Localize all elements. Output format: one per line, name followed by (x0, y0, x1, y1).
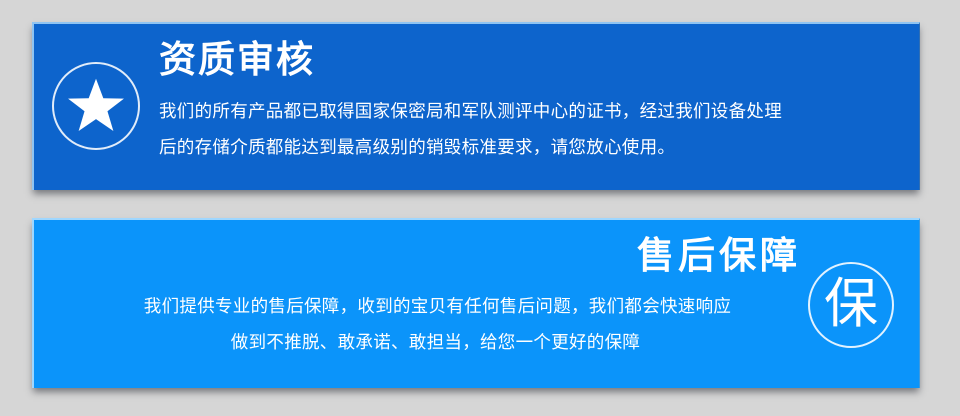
promo-banner-stage: 资质审核 我们的所有产品都已取得国家保密局和军队测评中心的证书，经过我们设备处理… (0, 0, 960, 416)
banner-qualification-surface: 资质审核 我们的所有产品都已取得国家保密局和军队测评中心的证书，经过我们设备处理… (32, 22, 920, 190)
banner-qualification-heading: 资质审核 (159, 40, 879, 80)
banner-aftersales-surface: 保 售后保障 我们提供专业的售后保障，收到的宝贝有任何售后问题，我们都会快速响应… (32, 218, 920, 388)
banner-qualification-body: 我们的所有产品都已取得国家保密局和军队测评中心的证书，经过我们设备处理 后的存储… (159, 94, 879, 166)
banner-qualification-text: 资质审核 我们的所有产品都已取得国家保密局和军队测评中心的证书，经过我们设备处理… (159, 40, 879, 166)
banner-aftersales-text: 售后保障 我们提供专业的售后保障，收到的宝贝有任何售后问题，我们都会快速响应 做… (74, 236, 801, 361)
bao-character-in-circle-icon: 保 (808, 262, 894, 348)
bao-character-glyph: 保 (824, 277, 878, 331)
banner-aftersales-body-line-1: 我们提供专业的售后保障，收到的宝贝有任何售后问题，我们都会快速响应 (74, 289, 801, 325)
banner-qualification: 资质审核 我们的所有产品都已取得国家保密局和军队测评中心的证书，经过我们设备处理… (32, 22, 920, 190)
banner-aftersales-heading: 售后保障 (74, 236, 801, 276)
banner-qualification-body-line-2: 后的存储介质都能达到最高级别的销毁标准要求，请您放心使用。 (159, 130, 879, 166)
banner-aftersales-body-line-2: 做到不推脱、敢承诺、敢担当，给您一个更好的保障 (74, 325, 801, 361)
star-in-circle-icon (52, 62, 140, 150)
banner-qualification-body-line-1: 我们的所有产品都已取得国家保密局和军队测评中心的证书，经过我们设备处理 (159, 94, 879, 130)
banner-aftersales: 保 售后保障 我们提供专业的售后保障，收到的宝贝有任何售后问题，我们都会快速响应… (32, 218, 920, 388)
banner-aftersales-body: 我们提供专业的售后保障，收到的宝贝有任何售后问题，我们都会快速响应 做到不推脱、… (74, 289, 801, 361)
